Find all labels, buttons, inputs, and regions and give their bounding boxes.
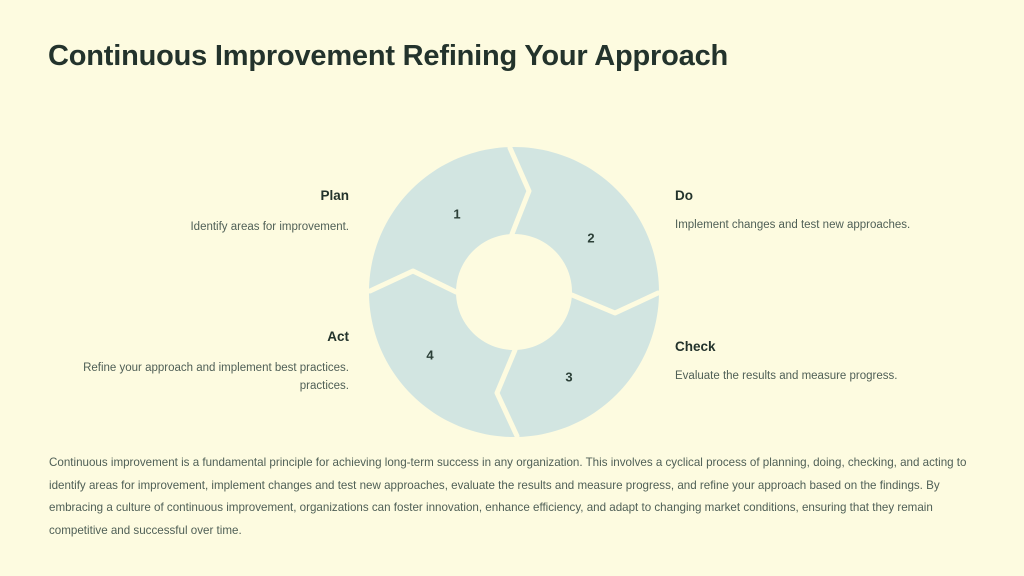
segment-number-3: 3 [565,370,572,385]
summary-paragraph: Continuous improvement is a fundamental … [49,452,974,542]
segment-number-4: 4 [426,348,433,363]
label-heading-check: Check [675,339,975,354]
label-heading-plan: Plan [49,188,349,203]
label-description-act-overflow: practices. [49,378,349,396]
label-description-do: Implement changes and test new approache… [675,217,975,235]
label-description-plan: Identify areas for improvement. [49,219,349,237]
label-description-check: Evaluate the results and measure progres… [675,368,975,386]
label-description-act: Refine your approach and implement best … [49,360,349,378]
segment-number-2: 2 [587,231,594,246]
label-block-act: Act Refine your approach and implement b… [49,329,349,396]
label-block-do: Do Implement changes and test new approa… [675,188,975,235]
label-block-plan: Plan Identify areas for improvement. [49,188,349,237]
donut-chart-svg [369,147,659,437]
page-title: Continuous Improvement Refining Your App… [48,40,728,73]
donut-ring [369,147,659,437]
label-block-check: Check Evaluate the results and measure p… [675,339,975,386]
label-heading-do: Do [675,188,975,203]
segment-number-1: 1 [453,207,460,222]
label-heading-act: Act [49,329,349,344]
pdca-cycle-diagram: 1 2 3 4 [369,147,659,437]
